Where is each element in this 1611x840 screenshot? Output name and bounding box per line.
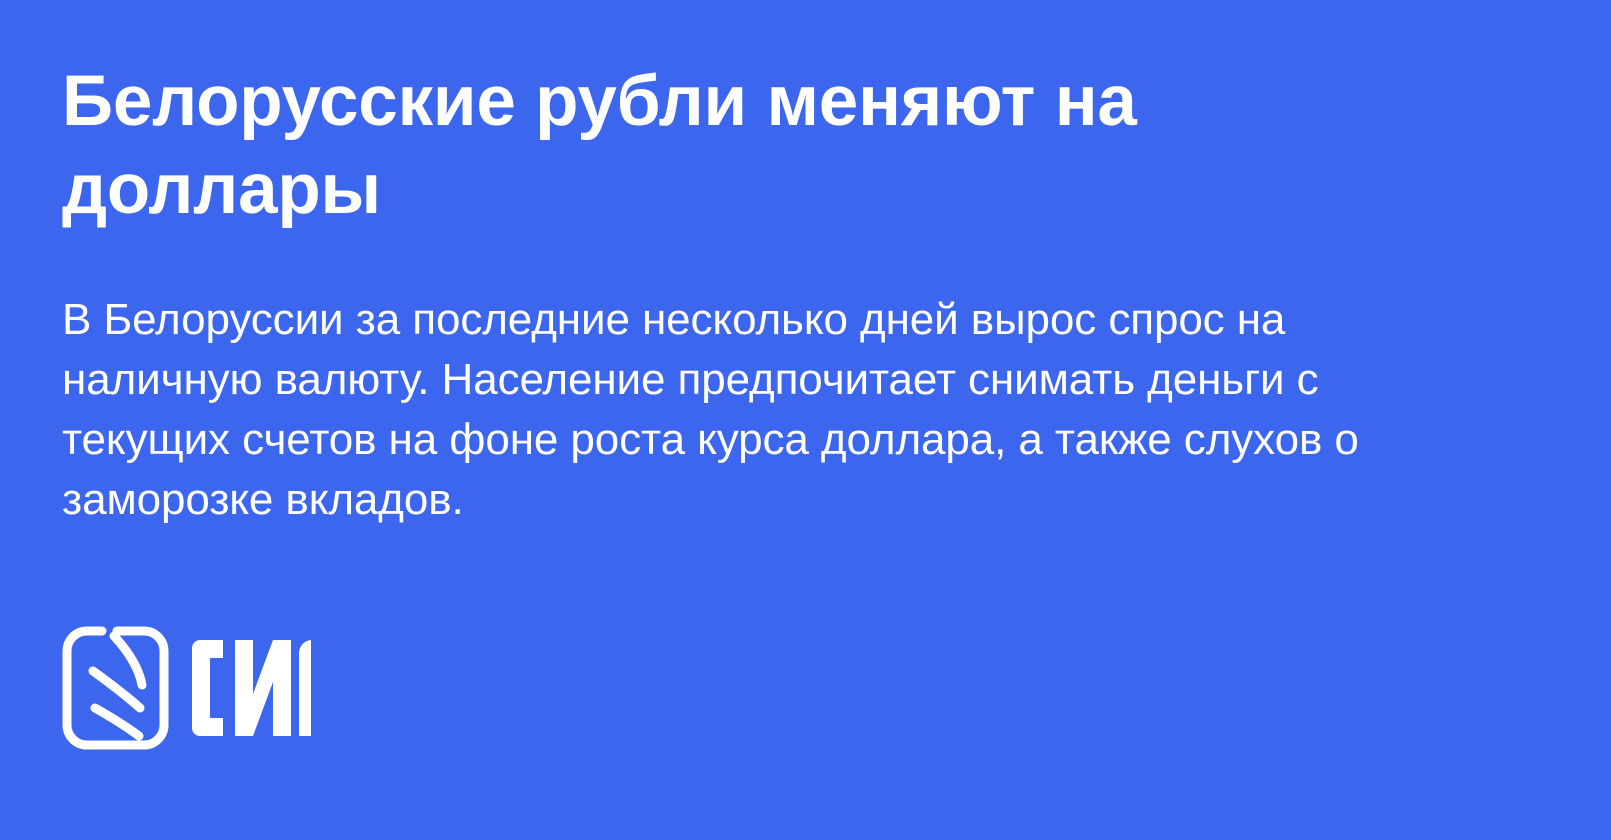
sia-logo[interactable] [62, 626, 311, 750]
card-content: Белорусские рубли меняют на доллары В Бе… [62, 0, 1492, 530]
document-with-diagonal-strokes-icon [62, 626, 169, 750]
article-summary: В Белоруссии за последние несколько дней… [62, 234, 1474, 530]
news-card: Белорусские рубли меняют на доллары В Бе… [0, 0, 1611, 840]
page-title: Белорусские рубли меняют на доллары [62, 0, 1352, 234]
sia-wordmark [187, 635, 311, 741]
